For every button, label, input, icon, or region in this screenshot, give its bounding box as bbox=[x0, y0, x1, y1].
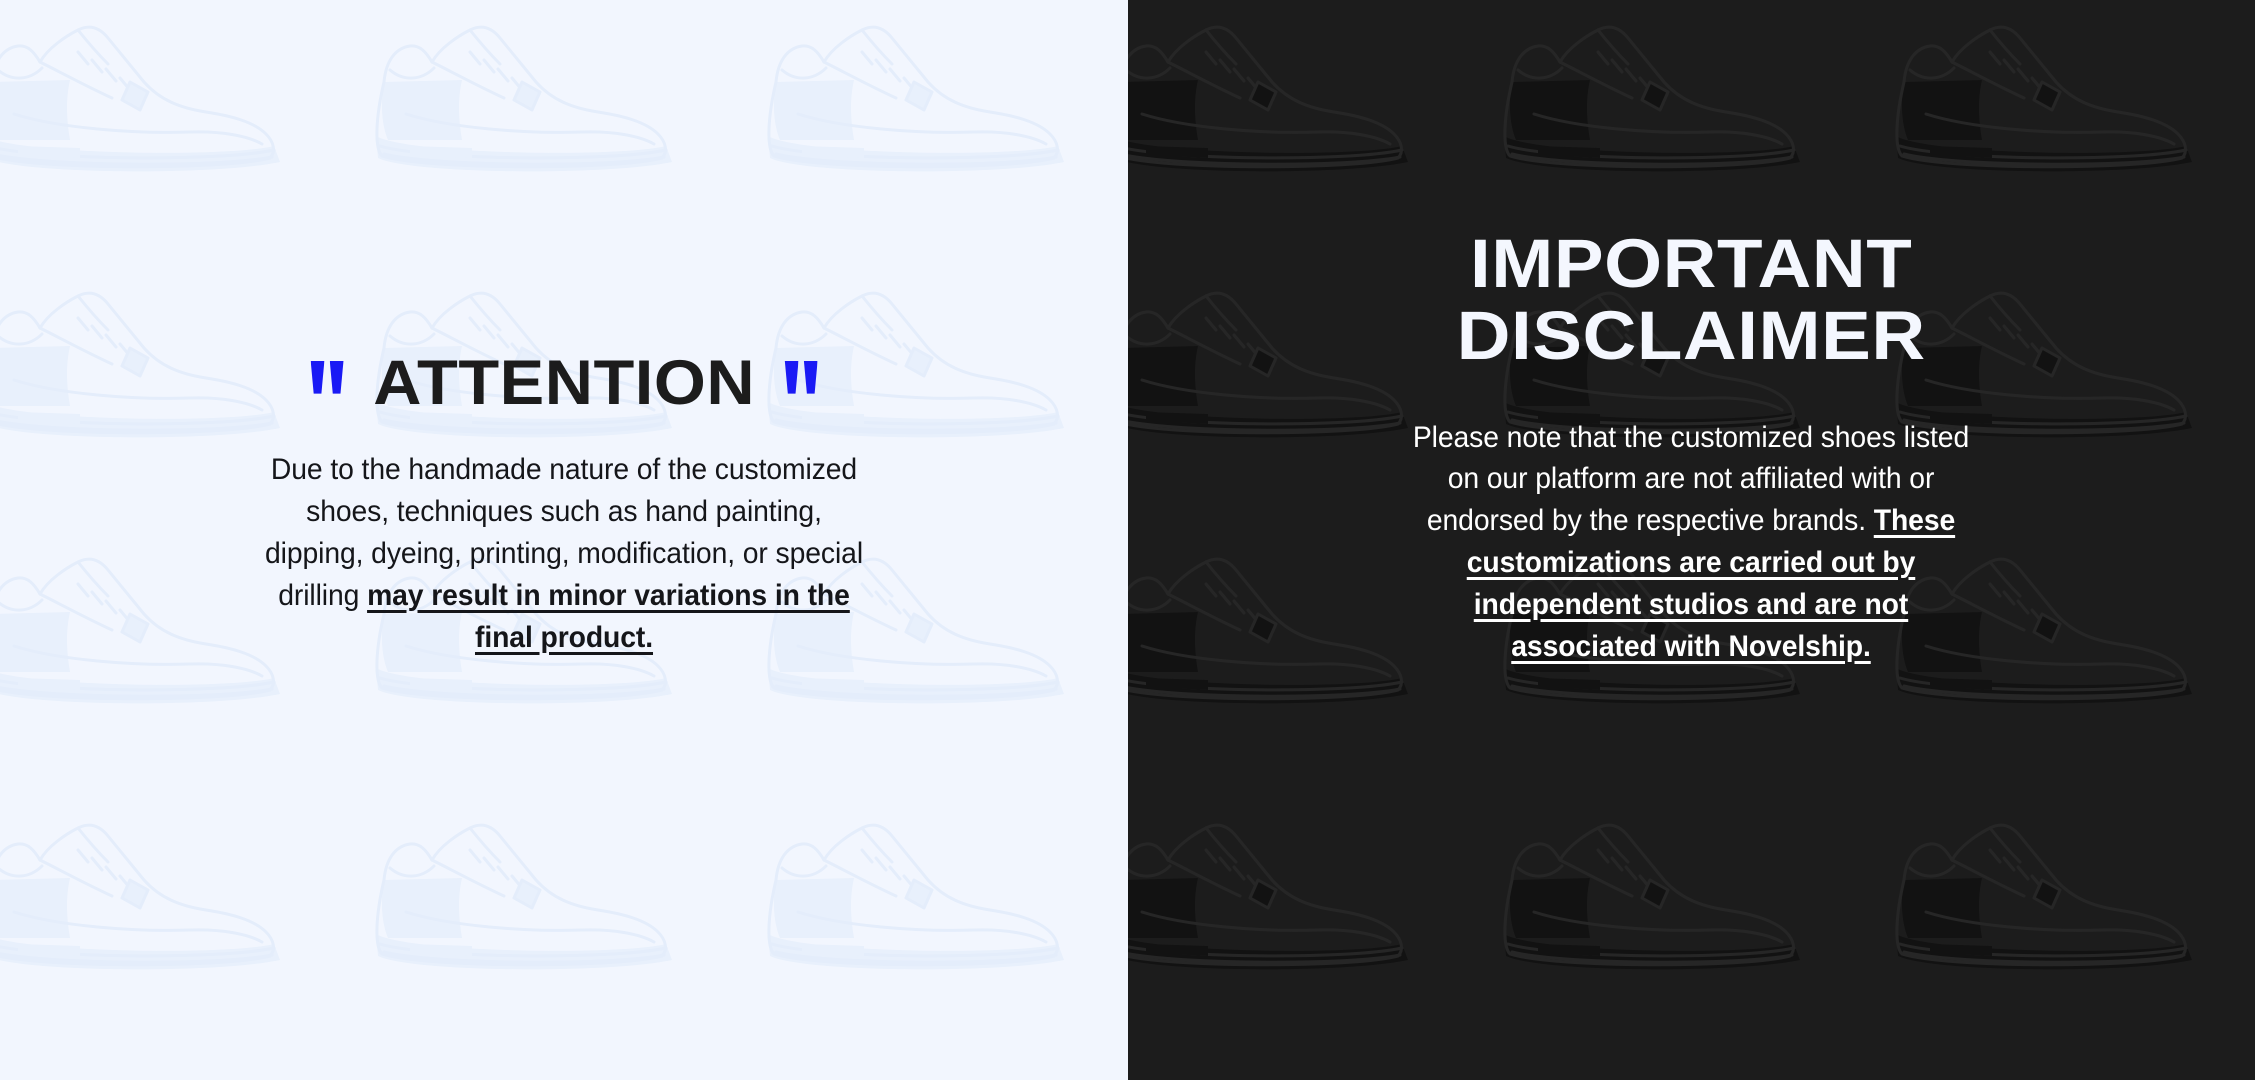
attention-heading-label: ATTENTION bbox=[373, 352, 755, 415]
attention-panel: ATTENTION Due to the handmade nature of … bbox=[0, 0, 1128, 1080]
disclaimer-banner: ATTENTION Due to the handmade nature of … bbox=[0, 0, 2255, 1080]
attention-body-stressed: may result in minor variations in the fi… bbox=[367, 579, 850, 654]
attention-heading: ATTENTION bbox=[310, 352, 817, 415]
attention-body: Due to the handmade nature of the custom… bbox=[257, 449, 871, 658]
disclaimer-body: Please note that the customized shoes li… bbox=[1397, 417, 1985, 668]
disclaimer-heading: IMPORTANT DISCLAIMER bbox=[1457, 228, 1926, 372]
disclaimer-panel: IMPORTANT DISCLAIMER Please note that th… bbox=[1128, 0, 2255, 1080]
double-exclamation-left-icon bbox=[310, 361, 343, 407]
double-exclamation-right-icon bbox=[784, 361, 817, 407]
disclaimer-heading-line1: IMPORTANT bbox=[1470, 225, 1912, 302]
disclaimer-heading-line2: DISCLAIMER bbox=[1457, 297, 1926, 374]
